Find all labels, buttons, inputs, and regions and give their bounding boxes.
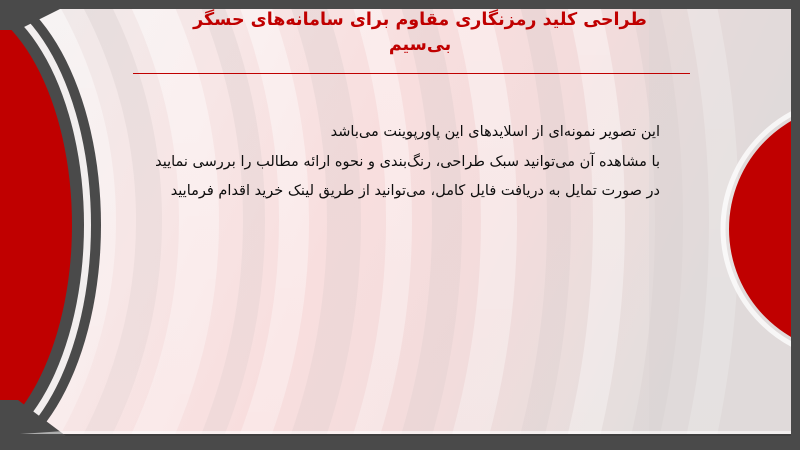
slide-title: طراحی کلید رمزنگاری مقاوم برای سامانه‌ها…	[120, 8, 720, 59]
body-line-1: این تصویر نمونه‌ای از اسلایدهای این پاور…	[140, 118, 660, 148]
body-line-3: در صورت تمایل به دریافت فایل کامل، می‌تو…	[140, 177, 660, 207]
slide-body: این تصویر نمونه‌ای از اسلایدهای این پاور…	[140, 118, 660, 207]
presentation-slide: طراحی کلید رمزنگاری مقاوم برای سامانه‌ها…	[0, 0, 800, 450]
body-line-2: با مشاهده آن می‌توانید سبک طراحی، رنگ‌بن…	[140, 148, 660, 178]
title-divider-rule	[133, 73, 690, 74]
slide-title-text: طراحی کلید رمزنگاری مقاوم برای سامانه‌ها…	[120, 8, 720, 59]
